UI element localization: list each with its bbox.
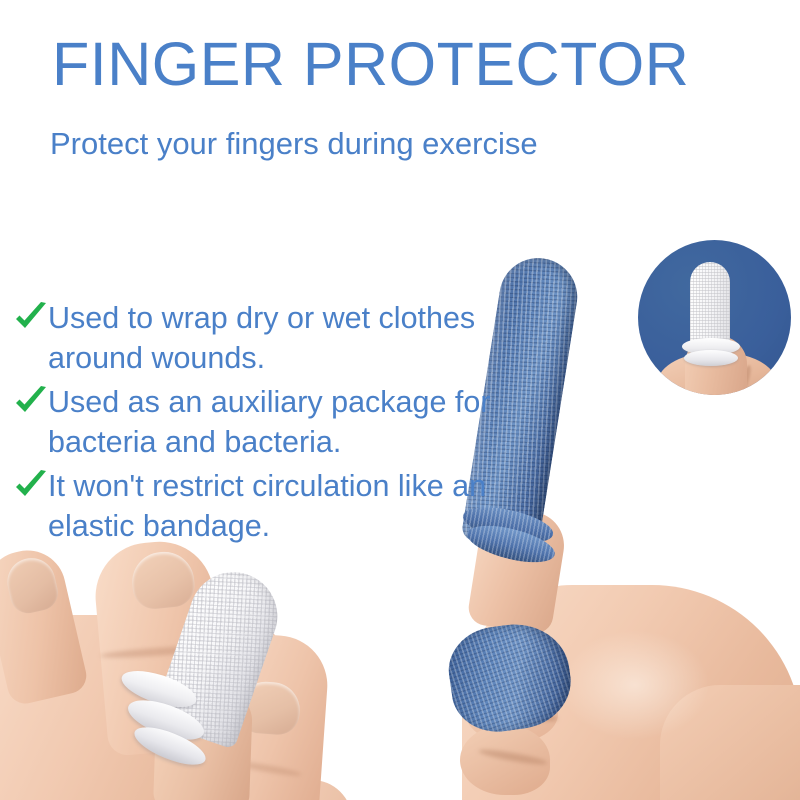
check-icon: [14, 386, 48, 418]
page-title: FINGER PROTECTOR: [52, 34, 689, 95]
feature-text: Used to wrap dry or wet clothes around w…: [48, 301, 475, 375]
page-subtitle: Protect your fingers during exercise: [50, 128, 538, 159]
list-item: Used as an auxiliary package for bacteri…: [10, 382, 510, 462]
check-icon: [14, 302, 48, 334]
white-finger-cot-on-hand: [0, 530, 400, 800]
feature-text: It won't restrict circulation like an el…: [48, 469, 486, 543]
check-icon: [14, 470, 48, 502]
feature-list: Used to wrap dry or wet clothes around w…: [10, 298, 510, 550]
feature-text: Used as an auxiliary package for bacteri…: [48, 385, 491, 459]
product-poster: FINGER PROTECTOR Protect your fingers du…: [0, 0, 800, 800]
list-item: It won't restrict circulation like an el…: [10, 466, 510, 546]
list-item: Used to wrap dry or wet clothes around w…: [10, 298, 510, 378]
hand-highlight: [560, 630, 710, 740]
